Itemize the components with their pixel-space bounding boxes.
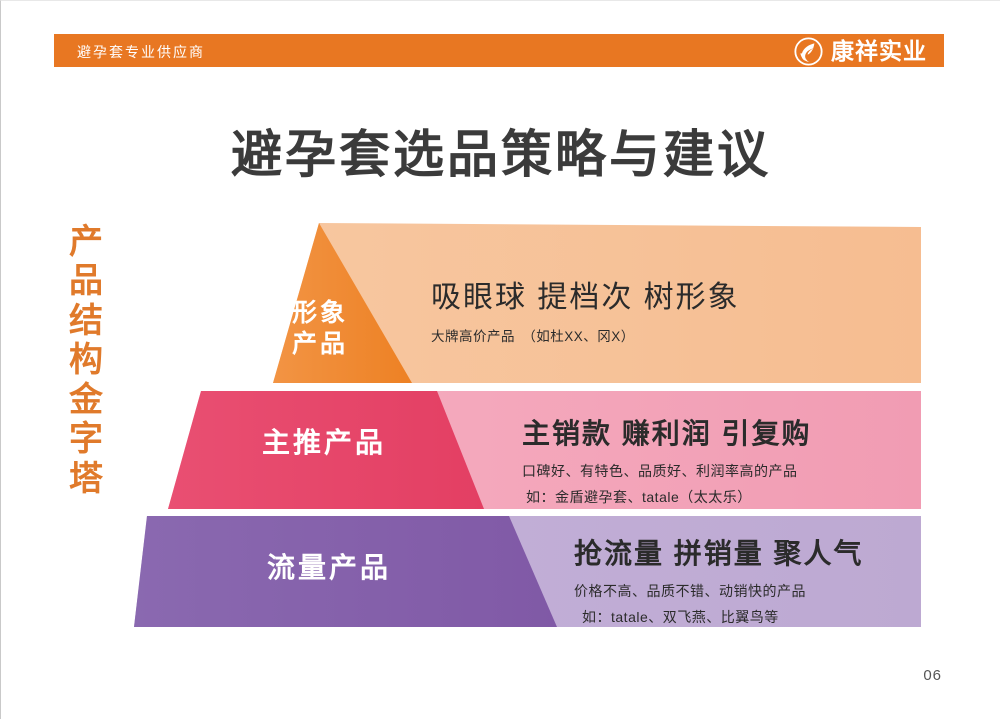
side-label-char: 塔 (63, 460, 109, 499)
tier-3-left-label: 流量产品 (244, 551, 414, 585)
tier-1-left-label-line: 形象 (277, 298, 363, 329)
tier-2-subtext: 如：金盾避孕套、tatale（太太乐） (522, 487, 812, 507)
side-label-char: 品 (63, 262, 109, 301)
company-logo: 康祥实业 (794, 36, 927, 66)
tier-1-subtext: 大牌高价产品 （如杜XX、冈X） (431, 325, 740, 345)
tier-1-left-label-line: 产品 (277, 329, 363, 360)
tier-1-headline: 吸眼球 提档次 树形象 (431, 272, 740, 316)
tier-1-content: 吸眼球 提档次 树形象 大牌高价产品 （如杜XX、冈X） (431, 272, 740, 345)
side-label-char: 产 (63, 223, 109, 262)
tier-2-left-label-line: 主推产品 (239, 426, 409, 460)
page-number: 06 (923, 667, 942, 684)
side-label-char: 字 (63, 420, 109, 459)
tier-2-headline: 主销款 赚利润 引复购 (522, 412, 812, 452)
swirl-leaf-logo-icon (794, 37, 823, 66)
vertical-section-label: 产 品 结 构 金 字 塔 (63, 223, 109, 499)
tier-3-subtext: 价格不高、品质不错、动销快的产品 (574, 581, 864, 601)
tier-3-headline: 抢流量 拼销量 聚人气 (574, 532, 864, 572)
side-label-char: 结 (63, 302, 109, 341)
tier-3-subtext: 如：tatale、双飞燕、比翼鸟等 (574, 607, 864, 627)
page-title: 避孕套选品策略与建议 (1, 113, 1000, 187)
slide-canvas: 避孕套专业供应商 康祥实业 避孕套选品策略与建议 产 品 结 构 金 字 塔 (0, 0, 1000, 719)
side-label-char: 构 (63, 341, 109, 380)
side-label-char: 金 (63, 381, 109, 420)
tier-3-content: 抢流量 拼销量 聚人气 价格不高、品质不错、动销快的产品 如：tatale、双飞… (574, 532, 864, 627)
tier-1-left-label: 形象 产品 (277, 298, 363, 359)
logo-text: 康祥实业 (831, 40, 927, 63)
tier-3-left-label-line: 流量产品 (244, 551, 414, 585)
tier-2-subtext: 口碑好、有特色、品质好、利润率高的产品 (522, 461, 812, 481)
header-tagline: 避孕套专业供应商 (77, 42, 205, 62)
tier-2-left-label: 主推产品 (239, 426, 409, 460)
tier-2-content: 主销款 赚利润 引复购 口碑好、有特色、品质好、利润率高的产品 如：金盾避孕套、… (522, 412, 812, 507)
